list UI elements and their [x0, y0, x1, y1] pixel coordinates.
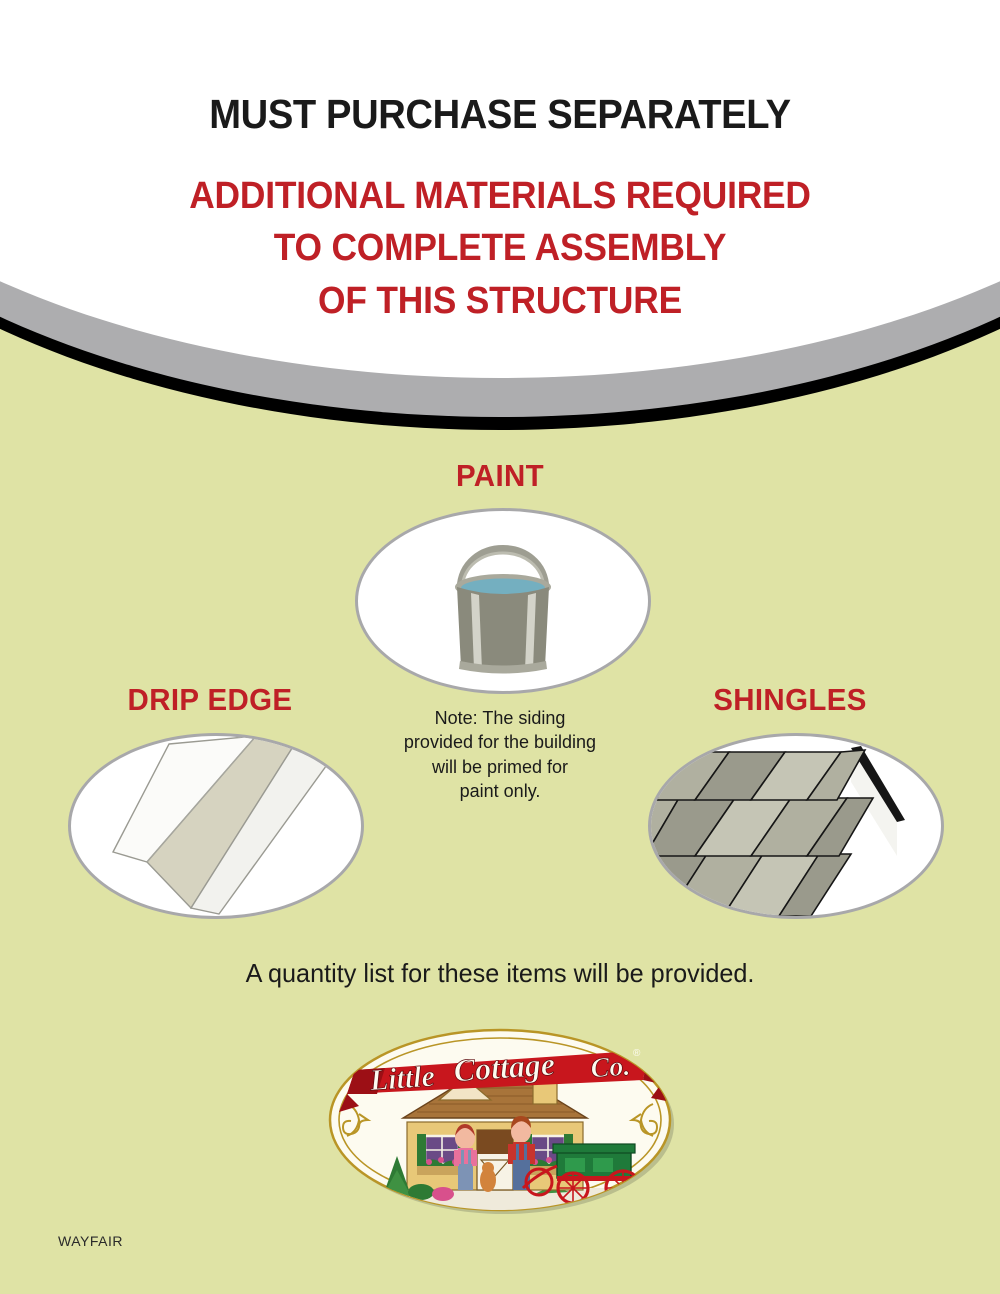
quantity-note: A quantity list for these items will be …	[15, 958, 985, 989]
paint-note-line-2: provided for the building	[404, 732, 596, 752]
paint-bucket-icon	[358, 511, 648, 691]
page-title-secondary-line-1: ADDITIONAL MATERIALS REQUIRED	[35, 170, 965, 222]
little-cottage-co-logo: Little Cottage Co. ®	[325, 1026, 675, 1214]
page-title-secondary-line-2: TO COMPLETE ASSEMBLY	[35, 222, 965, 274]
item-label-shingles: SHINGLES	[648, 682, 933, 718]
wayfair-watermark: WAYFAIR	[58, 1233, 123, 1249]
paint-note-line-4: paint only.	[460, 781, 541, 801]
item-label-drip-edge: DRIP EDGE	[68, 682, 353, 718]
page-title-secondary-line-3: OF THIS STRUCTURE	[35, 275, 965, 327]
item-image-shingles	[648, 733, 944, 919]
logo-word-co: Co.	[590, 1051, 632, 1085]
page-title-secondary: ADDITIONAL MATERIALS REQUIRED TO COMPLET…	[35, 135, 965, 327]
paint-note: Note: The siding provided for the buildi…	[380, 706, 620, 803]
logo-registered-mark: ®	[633, 1048, 641, 1059]
paint-note-line-1: Note: The siding	[435, 708, 566, 728]
header-text-group: MUST PURCHASE SEPARATELY ADDITIONAL MATE…	[0, 0, 1000, 327]
shingles-icon	[651, 736, 941, 916]
item-label-paint: PAINT	[358, 458, 643, 494]
paint-note-line-3: will be primed for	[432, 757, 568, 777]
logo-word-little: Little	[368, 1060, 436, 1098]
drip-edge-icon	[71, 736, 361, 916]
logo-word-cottage: Cottage	[452, 1046, 556, 1089]
item-image-drip-edge	[68, 733, 364, 919]
logo-dog	[480, 1162, 496, 1192]
page-title-primary: MUST PURCHASE SEPARATELY	[35, 0, 965, 135]
item-image-paint	[355, 508, 651, 694]
